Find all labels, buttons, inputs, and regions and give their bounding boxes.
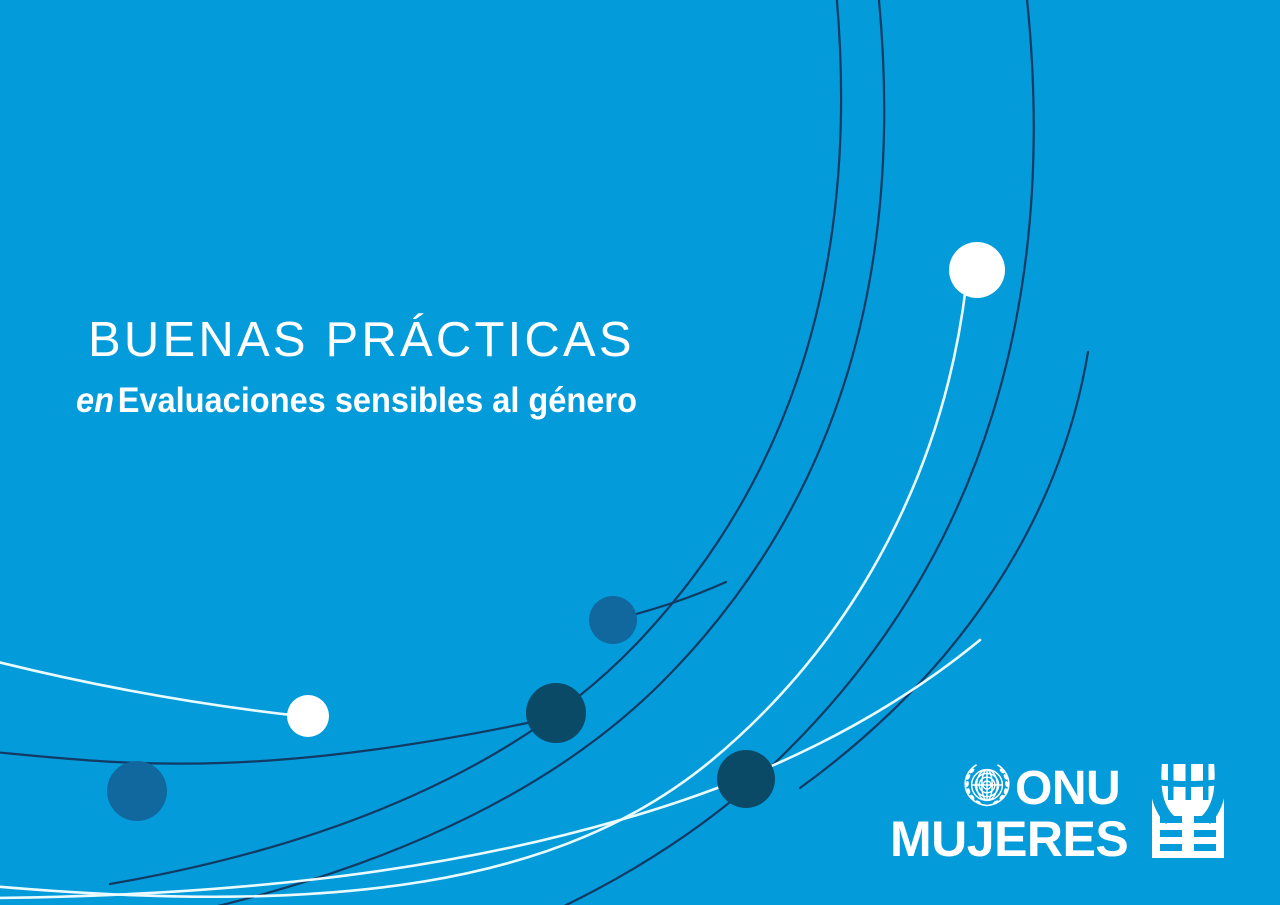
page-title: BUENAS PRÁCTICAS — [88, 312, 848, 368]
arc-white-left — [0, 660, 300, 716]
page-subtitle: enEvaluaciones sensibles al género — [76, 380, 794, 422]
arc-navy-outer — [110, 0, 841, 884]
logo-text-onu: ONU — [1015, 762, 1120, 815]
page-subtitle-text: Evaluaciones sensibles al género — [118, 381, 637, 420]
arc-navy-tail-left — [0, 716, 560, 764]
un-women-symbol — [1149, 762, 1226, 860]
dot-mid-blue-lower — [107, 761, 167, 821]
dot-white-large — [949, 242, 1005, 298]
dot-mid-blue-upper — [589, 596, 637, 644]
cover-title-block: BUENAS PRÁCTICAS enEvaluaciones sensible… — [88, 312, 848, 422]
united-nations-emblem — [965, 765, 1009, 806]
dot-navy-left — [526, 683, 586, 743]
page-subtitle-prefix: en — [76, 381, 118, 420]
dot-navy-right — [717, 750, 775, 808]
logo-text-mujeres: MUJERES — [890, 811, 1128, 866]
arc-white-bottom — [0, 640, 980, 898]
arc-navy-tail-mid — [614, 582, 726, 620]
arc-navy-second — [104, 0, 884, 905]
onu-mujeres-logo: ONU MUJERES — [888, 758, 1232, 866]
dot-white-small — [287, 695, 329, 737]
cover-page: BUENAS PRÁCTICAS enEvaluaciones sensible… — [0, 0, 1280, 905]
